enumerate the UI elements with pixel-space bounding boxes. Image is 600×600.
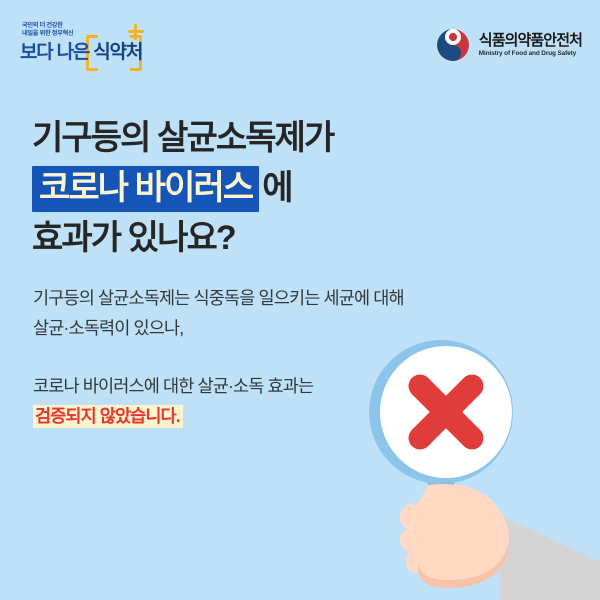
headline: 기구등의 살균소독제가 코로나 바이러스에 효과가 있나요? (32, 113, 502, 263)
paragraph-2-line-2: 검증되지 않았습니다. (33, 401, 553, 431)
infographic-card: 국민의 더 건강한 내일을 위한 정부혁신 보다 나은 식약처 식품의약품안전처… (0, 0, 600, 600)
paragraph-2: 코로나 바이러스에 대한 살균·소독 효과는 검증되지 않았습니다. (33, 371, 553, 431)
headline-line-1: 기구등의 살균소독제가 (32, 113, 502, 163)
hand-shape (400, 484, 509, 588)
ministry-name-korean: 식품의약품안전처 (479, 33, 582, 49)
magnifier-handle (428, 445, 454, 573)
sleeve-shape (500, 515, 600, 600)
headline-line-2: 코로나 바이러스에 (32, 163, 502, 213)
ministry-logo-text: 식품의약품안전처 Ministry of Food and Drug Safet… (479, 33, 582, 57)
paragraph-2-emphasis: 검증되지 않았습니다. (33, 405, 183, 428)
brand-main-prefix: 보다 나은 (20, 42, 93, 63)
paragraph-1: 기구등의 살균소독제는 식중독을 일으키는 세균에 대해 살균·소독력이 있으나… (33, 283, 553, 343)
headline-line-3: 효과가 있나요? (32, 213, 502, 263)
headline-highlight-coronavirus: 코로나 바이러스 (32, 166, 259, 212)
brand-tagline: 국민의 더 건강한 내일을 위한 정부혁신 (22, 22, 118, 38)
headline-line-2-suffix: 에 (262, 169, 291, 207)
better-mfds-slogan-logo: 국민의 더 건강한 내일을 위한 정부혁신 보다 나은 식약처 (18, 22, 148, 74)
ministry-of-food-and-drug-safety-logo: 식품의약품안전처 Ministry of Food and Drug Safet… (436, 28, 582, 62)
paragraph-1-line-2: 살균·소독력이 있으나, (33, 313, 553, 343)
brand-main-text: 보다 나은 식약처 (20, 37, 142, 64)
taeguk-icon (436, 28, 470, 62)
paragraph-2-line-1: 코로나 바이러스에 대한 살균·소독 효과는 (33, 371, 553, 401)
body-copy: 기구등의 살균소독제는 식중독을 일으키는 세균에 대해 살균·소독력이 있으나… (33, 283, 553, 431)
ministry-name-english: Ministry of Food and Drug Safety (479, 51, 582, 58)
brand-tagline-line1: 국민의 더 건강한 (22, 22, 118, 30)
header: 국민의 더 건강한 내일을 위한 정부혁신 보다 나은 식약처 식품의약품안전처… (0, 0, 600, 96)
brand-main-agency: 식약처 (93, 42, 142, 63)
paragraph-1-line-1: 기구등의 살균소독제는 식중독을 일으키는 세균에 대해 (33, 283, 553, 313)
